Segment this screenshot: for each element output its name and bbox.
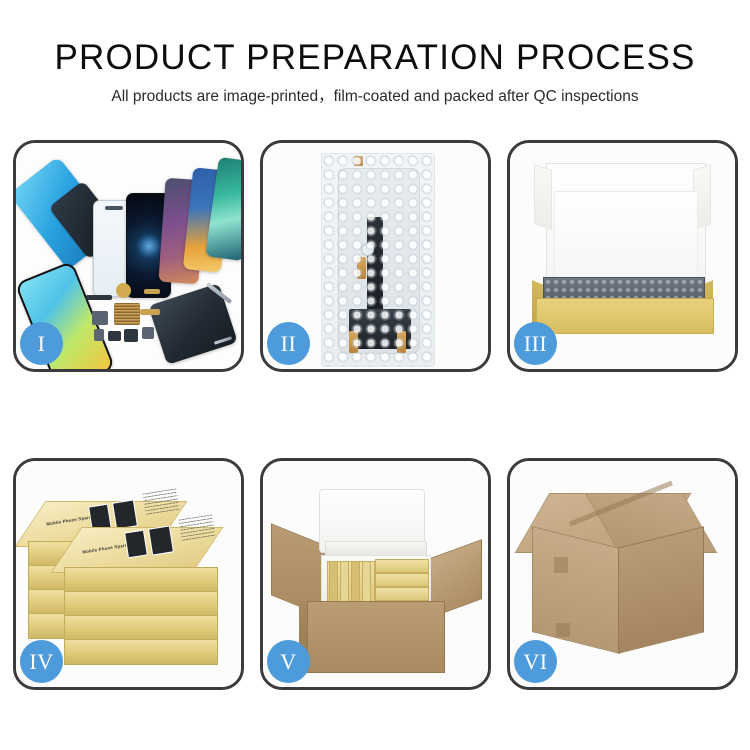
step-badge-2: II bbox=[267, 322, 310, 365]
retail-box-front-2 bbox=[64, 591, 218, 617]
part-speaker-coil bbox=[116, 283, 131, 298]
part-earpiece bbox=[124, 329, 138, 342]
carton-tape-patch-bottom bbox=[556, 623, 570, 637]
packed-box-right-2 bbox=[375, 573, 429, 587]
bubble-wrap-bag bbox=[321, 153, 435, 367]
step-badge-5: V bbox=[267, 640, 310, 683]
retail-box-front-4 bbox=[64, 639, 218, 665]
step-badge-3: III bbox=[514, 322, 557, 365]
carton-tape-patch-top bbox=[554, 557, 568, 573]
step-badge-4: IV bbox=[20, 640, 63, 683]
retail-box-window-back-2 bbox=[112, 499, 138, 529]
step-panel-3[interactable]: III bbox=[507, 140, 738, 372]
process-step-grid: I II bbox=[13, 140, 739, 690]
step-badge-6: VI bbox=[514, 640, 557, 683]
page-subtitle: All products are image-printed，film-coat… bbox=[0, 85, 750, 109]
step-6-image: VI bbox=[510, 461, 735, 687]
step-panel-2[interactable]: II bbox=[260, 140, 491, 372]
carton-front-wall bbox=[307, 601, 445, 673]
step-1-image: I bbox=[16, 143, 241, 369]
gold-tape-tab-top bbox=[354, 156, 363, 166]
gold-tape-tab-3 bbox=[397, 331, 406, 353]
box-lid-flap-left bbox=[534, 164, 552, 230]
phone-notch bbox=[105, 206, 123, 210]
step-badge-1: I bbox=[20, 322, 63, 365]
part-connector-strip bbox=[86, 295, 112, 300]
part-logic-board bbox=[114, 303, 140, 325]
packed-box-right-3 bbox=[375, 587, 429, 601]
step-4-image: Mobile Phone Spare Parts Mobile Phone Sp… bbox=[16, 461, 241, 687]
step-2-image: II bbox=[263, 143, 488, 369]
part-button-set bbox=[142, 327, 154, 339]
gold-tape-tab-1 bbox=[357, 257, 366, 279]
step-panel-5[interactable]: V bbox=[260, 458, 491, 690]
page-title: PRODUCT PREPARATION PROCESS bbox=[0, 36, 750, 80]
part-camera-module bbox=[92, 311, 108, 325]
part-flex-cable-2 bbox=[140, 309, 160, 315]
product-preparation-infographic: PRODUCT PREPARATION PROCESS All products… bbox=[0, 0, 750, 750]
camera-cutout bbox=[361, 243, 374, 256]
step-panel-4[interactable]: Mobile Phone Spare Parts Mobile Phone Sp… bbox=[13, 458, 244, 690]
retail-box-window-front-2 bbox=[148, 525, 174, 555]
lcd-screen-assembly bbox=[338, 168, 420, 354]
retail-box-front-1 bbox=[64, 567, 218, 593]
step-panel-6[interactable]: VI bbox=[507, 458, 738, 690]
step-3-image: III bbox=[510, 143, 735, 369]
white-foam-sheet bbox=[554, 191, 698, 279]
part-flex-cable-1 bbox=[144, 289, 160, 294]
step-5-image: V bbox=[263, 461, 488, 687]
retail-box-front-3 bbox=[64, 615, 218, 641]
header: PRODUCT PREPARATION PROCESS All products… bbox=[0, 36, 750, 109]
carton-front-face bbox=[532, 526, 620, 654]
part-sim-tray bbox=[94, 329, 104, 341]
box-front-wall bbox=[536, 298, 714, 334]
packed-box-right-1 bbox=[375, 559, 429, 573]
retail-box-window-front-1 bbox=[124, 530, 148, 559]
carton-side-face bbox=[618, 526, 704, 653]
gold-tape-tab-2 bbox=[349, 331, 358, 353]
part-vibration-motor bbox=[108, 331, 121, 341]
step-panel-1[interactable]: I bbox=[13, 140, 244, 372]
